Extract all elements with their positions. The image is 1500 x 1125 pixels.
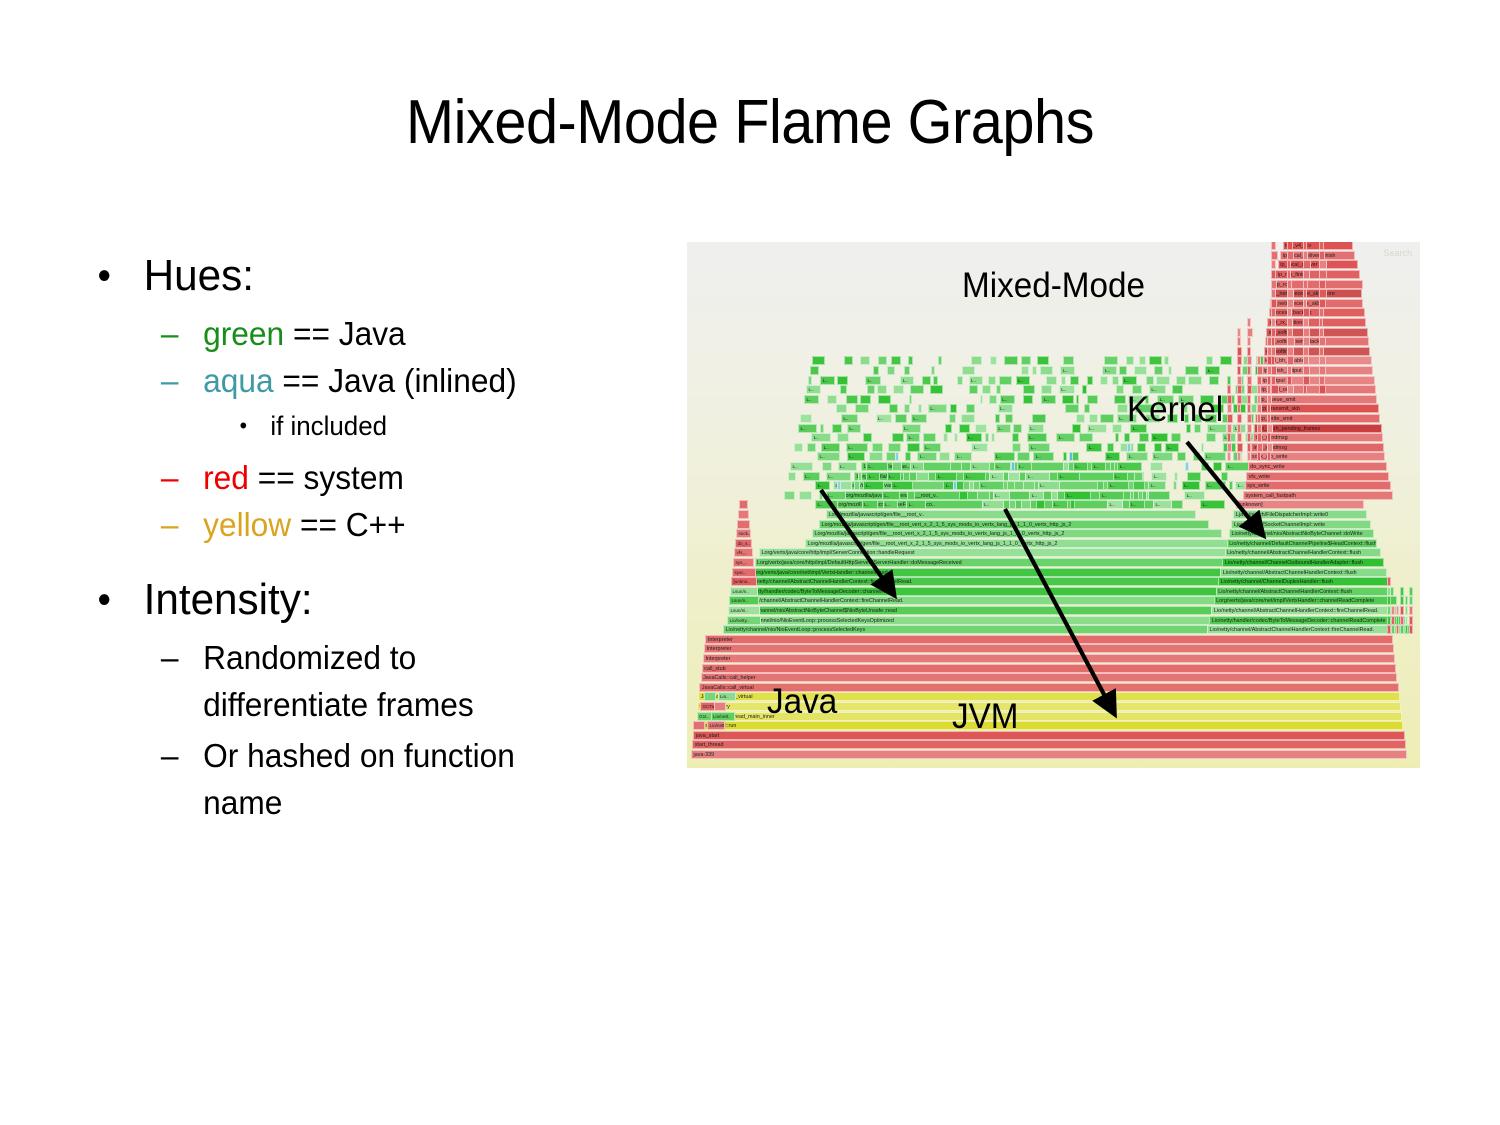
flame-frame[interactable]: L.. — [1064, 491, 1091, 500]
flame-frame[interactable] — [1193, 452, 1200, 461]
flame-frame[interactable] — [1206, 356, 1213, 365]
flame-frame[interactable]: L.. — [887, 472, 902, 481]
flame-frame[interactable] — [1271, 242, 1276, 250]
flame-frame[interactable]: L.. — [910, 462, 924, 471]
flame-frame[interactable] — [860, 356, 871, 365]
flame-frame[interactable]: L.. — [1204, 452, 1227, 461]
flame-frame[interactable]: L.. — [847, 452, 866, 461]
flame-frame[interactable]: L.. — [1126, 452, 1148, 461]
flame-frame[interactable] — [1405, 606, 1409, 615]
flame-frame[interactable]: L.. — [1107, 481, 1128, 490]
flame-frame[interactable]: Lio/netty.. — [727, 616, 761, 625]
flame-frame[interactable] — [1271, 347, 1276, 356]
flame-frame[interactable] — [1396, 625, 1400, 634]
flame-frame[interactable]: L.. — [1087, 424, 1107, 433]
flame-frame[interactable] — [1138, 491, 1143, 500]
flame-frame[interactable] — [916, 472, 929, 481]
flame-frame[interactable] — [1319, 308, 1324, 317]
flame-frame[interactable] — [933, 376, 938, 385]
flame-frame[interactable] — [1400, 616, 1404, 625]
flame-frame[interactable] — [1061, 376, 1065, 385]
flame-frame[interactable] — [980, 395, 984, 404]
flame-frame[interactable] — [1257, 424, 1262, 433]
flame-frame[interactable] — [1227, 443, 1232, 452]
flame-frame[interactable] — [1267, 424, 1273, 433]
flame-frame[interactable] — [1387, 596, 1391, 605]
flame-frame[interactable] — [1287, 347, 1294, 356]
flame-frame[interactable]: vfs_write — [1246, 472, 1389, 481]
flame-frame[interactable] — [1076, 414, 1085, 423]
flame-frame[interactable]: ip_output — [1260, 376, 1374, 385]
flame-frame[interactable] — [1227, 376, 1232, 385]
flame-frame[interactable] — [860, 395, 871, 404]
flame-frame[interactable]: tcp_write_xmit — [1255, 414, 1380, 423]
flame-frame[interactable] — [1237, 347, 1242, 356]
flame-frame[interactable]: tcp_transmit_skb — [1257, 404, 1379, 413]
flame-frame[interactable] — [893, 385, 904, 394]
flame-frame[interactable]: L.. — [1086, 443, 1102, 452]
flame-frame[interactable] — [1139, 433, 1149, 442]
flame-frame[interactable] — [977, 491, 990, 500]
flame-frame[interactable]: L.. — [1182, 481, 1200, 490]
flame-frame[interactable] — [1023, 395, 1033, 404]
flame-frame[interactable] — [810, 366, 819, 375]
flame-frame[interactable] — [877, 385, 887, 394]
flame-frame[interactable] — [1070, 376, 1079, 385]
flame-frame[interactable]: L.. — [866, 462, 888, 471]
flame-frame[interactable]: L.. — [906, 500, 926, 509]
flame-frame[interactable] — [872, 443, 883, 452]
flame-frame[interactable]: L.. — [798, 424, 817, 433]
flame-frame[interactable]: L.. — [826, 472, 851, 481]
flame-frame[interactable] — [1070, 500, 1075, 509]
flame-frame[interactable]: L.. — [979, 481, 1004, 490]
flame-frame[interactable] — [1112, 376, 1120, 385]
flame-frame[interactable] — [938, 356, 942, 365]
flame-frame[interactable] — [1114, 395, 1126, 404]
flame-frame[interactable] — [837, 376, 847, 385]
flame-frame[interactable] — [991, 433, 995, 442]
flame-frame[interactable]: L.. — [1184, 491, 1205, 500]
flame-frame[interactable] — [1139, 356, 1146, 365]
flame-frame[interactable] — [1396, 606, 1400, 615]
flame-frame[interactable]: L.. — [1073, 462, 1088, 471]
flame-frame[interactable]: L.. — [876, 414, 892, 423]
flame-frame[interactable] — [1287, 366, 1292, 375]
flame-frame[interactable] — [844, 356, 852, 365]
flame-frame[interactable] — [966, 404, 975, 413]
flame-frame[interactable]: L.. — [970, 462, 990, 471]
flame-frame[interactable] — [1119, 366, 1127, 375]
flame-frame[interactable] — [1126, 356, 1134, 365]
flame-frame[interactable]: tcp_push_pending_frames — [1254, 424, 1381, 433]
flame-frame[interactable] — [808, 376, 812, 385]
flame-frame[interactable] — [1221, 472, 1228, 481]
flame-frame[interactable] — [1271, 376, 1276, 385]
flame-frame[interactable] — [794, 443, 803, 452]
flame-frame[interactable] — [969, 481, 975, 490]
flame-frame[interactable]: L.. — [806, 385, 821, 394]
flame-frame[interactable] — [969, 385, 978, 394]
flame-frame[interactable] — [1247, 356, 1252, 365]
flame-frame[interactable] — [1257, 414, 1261, 423]
flame-frame[interactable]: Lorg/mozilla/javascript/gen/file__root_v… — [812, 529, 1222, 538]
flame-frame[interactable] — [820, 424, 824, 433]
flame-frame[interactable] — [904, 404, 910, 413]
flame-frame[interactable] — [1187, 472, 1201, 481]
flame-frame[interactable] — [907, 443, 920, 452]
flame-frame[interactable] — [1319, 251, 1325, 260]
flame-frame[interactable] — [1115, 433, 1119, 442]
flame-frame[interactable] — [1271, 356, 1275, 365]
flame-frame[interactable] — [1247, 347, 1251, 356]
flame-frame[interactable]: L.. — [1165, 443, 1179, 452]
flame-frame[interactable]: Lio/netty/channel/AbstractChannelHandler… — [1216, 587, 1394, 596]
flame-frame[interactable]: L.. — [969, 376, 983, 385]
flame-frame[interactable]: system_call_fastpath — [1243, 491, 1393, 500]
flame-frame[interactable] — [1405, 625, 1409, 634]
flame-frame[interactable]: Lio/netty/channel/AbstractChannelHandler… — [1220, 568, 1387, 577]
flame-frame[interactable] — [1087, 376, 1093, 385]
flame-frame[interactable]: L.. — [1152, 452, 1174, 461]
flame-frame[interactable] — [869, 452, 883, 461]
flame-frame[interactable] — [1387, 587, 1391, 596]
flame-frame[interactable] — [895, 414, 906, 423]
flame-frame[interactable] — [1303, 366, 1310, 375]
flame-frame[interactable] — [1257, 366, 1263, 375]
flame-frame[interactable]: L.. — [928, 404, 947, 413]
flame-frame[interactable] — [1267, 385, 1271, 394]
flame-frame[interactable] — [1303, 376, 1310, 385]
flame-frame[interactable] — [1237, 376, 1242, 385]
flame-frame[interactable] — [1267, 347, 1272, 356]
flame-frame[interactable] — [1257, 356, 1261, 365]
flame-frame[interactable]: L.. — [1017, 462, 1033, 471]
flame-frame[interactable]: sys_write — [1245, 481, 1392, 490]
flame-frame[interactable] — [907, 491, 915, 500]
flame-frame[interactable] — [858, 472, 862, 481]
flame-frame[interactable] — [1409, 596, 1413, 605]
flame-frame[interactable]: Lio/nett.. — [711, 712, 735, 721]
flame-frame[interactable] — [1023, 481, 1034, 490]
flame-frame[interactable] — [1287, 308, 1292, 317]
flame-frame[interactable] — [1134, 472, 1143, 481]
flame-frame[interactable] — [1287, 328, 1293, 337]
flame-frame[interactable]: L.. — [1052, 500, 1069, 509]
flame-frame[interactable] — [962, 366, 975, 375]
flame-frame[interactable] — [889, 404, 897, 413]
flame-frame[interactable]: L.. — [1148, 481, 1166, 490]
flame-frame[interactable] — [1405, 616, 1409, 625]
flame-frame[interactable] — [1247, 328, 1253, 337]
flame-frame[interactable]: L.. — [1029, 491, 1044, 500]
flame-frame[interactable]: L.. — [906, 433, 920, 442]
flame-frame[interactable] — [1188, 376, 1201, 385]
flame-frame[interactable]: Lio/netty/channel/nio/AbstractNioByteCha… — [1229, 529, 1374, 538]
flame-frame[interactable] — [1149, 356, 1161, 365]
flame-frame[interactable] — [1137, 443, 1146, 452]
flame-frame[interactable] — [693, 721, 705, 730]
flame-frame[interactable] — [918, 404, 923, 413]
flame-frame[interactable] — [1133, 481, 1145, 490]
flame-frame[interactable]: L.. — [1000, 395, 1016, 404]
flame-frame[interactable]: L.. — [891, 481, 913, 490]
flame-frame[interactable] — [1004, 356, 1018, 365]
flame-frame[interactable] — [855, 404, 869, 413]
flame-frame[interactable] — [1271, 385, 1279, 394]
flame-frame[interactable]: Lio.. — [718, 692, 736, 701]
flame-frame[interactable] — [1124, 433, 1131, 442]
flame-frame[interactable] — [1051, 491, 1058, 500]
flame-frame[interactable] — [714, 702, 726, 711]
flame-frame[interactable]: [unknown] — [1236, 500, 1365, 509]
flame-frame[interactable] — [1154, 443, 1162, 452]
flame-frame[interactable] — [1257, 443, 1263, 452]
flame-frame[interactable] — [1213, 462, 1222, 471]
flame-frame[interactable] — [1237, 404, 1241, 413]
flame-frame[interactable]: Ljava/nio/ch/FileDispatcherImpl::write0 — [1233, 510, 1367, 519]
flame-frame[interactable] — [1237, 424, 1241, 433]
flame-frame[interactable] — [943, 433, 948, 442]
flame-frame[interactable] — [1400, 587, 1404, 596]
flame-frame[interactable]: L.. — [994, 462, 1011, 471]
flame-frame[interactable] — [1237, 366, 1241, 375]
flame-frame[interactable]: L.. — [963, 472, 985, 481]
flame-frame[interactable] — [1237, 414, 1242, 423]
flame-frame[interactable] — [922, 376, 931, 385]
flame-frame[interactable] — [1036, 500, 1046, 509]
flame-frame[interactable] — [1227, 452, 1231, 461]
flame-frame[interactable] — [1110, 462, 1115, 471]
flame-frame[interactable] — [1319, 318, 1323, 327]
flame-frame[interactable] — [1247, 443, 1251, 452]
flame-frame[interactable] — [867, 385, 875, 394]
flame-frame[interactable] — [1287, 242, 1293, 250]
flame-frame[interactable]: L.. — [1205, 366, 1219, 375]
flame-frame[interactable] — [1303, 347, 1309, 356]
flame-frame[interactable] — [1237, 337, 1241, 346]
flame-frame[interactable] — [954, 433, 959, 442]
flame-frame[interactable] — [737, 520, 750, 529]
flame-frame[interactable] — [985, 433, 990, 442]
flame-frame[interactable]: do_softirq_own_stack — [1265, 337, 1369, 346]
flame-frame[interactable] — [1400, 606, 1404, 615]
search-label[interactable]: Search — [1383, 248, 1412, 258]
flame-frame[interactable] — [908, 356, 913, 365]
flame-frame[interactable]: L.. — [1102, 366, 1116, 375]
flame-frame[interactable]: Interpreter — [705, 635, 1392, 644]
flame-frame[interactable]: L.. — [994, 452, 1015, 461]
flame-frame[interactable] — [1303, 385, 1307, 394]
flame-frame[interactable] — [1267, 366, 1272, 375]
flame-frame[interactable]: Lio/netty/channel/AbstractChannelHandler… — [1211, 606, 1400, 615]
flame-frame[interactable]: L.. — [820, 376, 834, 385]
flame-frame[interactable] — [1174, 472, 1178, 481]
flame-frame[interactable] — [807, 443, 816, 452]
flame-frame[interactable] — [1257, 376, 1262, 385]
flame-frame[interactable]: L.. — [1033, 452, 1054, 461]
flame-frame[interactable] — [1319, 366, 1326, 375]
flame-frame[interactable] — [931, 366, 935, 375]
flame-frame[interactable] — [1271, 328, 1276, 337]
flame-frame[interactable] — [1303, 242, 1307, 250]
flame-frame[interactable] — [1409, 587, 1413, 596]
flame-frame[interactable] — [1065, 404, 1078, 413]
flame-frame[interactable]: Interpreter — [703, 654, 1395, 663]
flame-frame[interactable]: start_thread — [692, 740, 1406, 749]
flame-frame[interactable] — [1405, 596, 1409, 605]
flame-frame[interactable]: L.. — [1060, 366, 1075, 375]
flame-frame[interactable] — [738, 510, 749, 519]
flame-frame[interactable] — [1146, 376, 1153, 385]
flame-frame[interactable] — [1156, 376, 1170, 385]
flame-frame[interactable] — [1100, 376, 1108, 385]
flame-frame[interactable] — [800, 414, 812, 423]
flame-frame[interactable] — [1005, 414, 1013, 423]
flame-frame[interactable]: L.. — [1151, 472, 1167, 481]
flame-frame[interactable] — [1247, 395, 1251, 404]
flame-frame[interactable] — [910, 385, 924, 394]
flame-frame[interactable] — [827, 395, 837, 404]
flame-frame[interactable] — [873, 366, 879, 375]
flame-frame[interactable] — [1009, 500, 1015, 509]
flame-frame[interactable] — [1063, 356, 1074, 365]
flame-frame[interactable] — [840, 385, 847, 394]
flame-frame[interactable] — [1008, 472, 1020, 481]
flame-frame[interactable] — [1063, 452, 1067, 461]
flame-frame[interactable] — [1116, 385, 1124, 394]
flame-frame[interactable]: ip_finish_output — [1261, 366, 1373, 375]
flame-frame[interactable] — [953, 481, 957, 490]
flame-frame[interactable]: L.. — [1225, 462, 1250, 471]
flame-frame[interactable] — [1257, 433, 1262, 442]
flame-frame[interactable]: sysc.. — [732, 568, 756, 577]
flame-frame[interactable]: L.. — [966, 433, 983, 442]
flame-frame[interactable]: L.. — [1091, 462, 1105, 471]
flame-frame[interactable]: L.. — [1205, 481, 1226, 490]
flame-frame[interactable] — [1150, 462, 1164, 471]
flame-frame[interactable] — [1185, 462, 1189, 471]
flame-frame[interactable]: JavaCalls::call_helper — [701, 673, 1398, 682]
flame-frame[interactable] — [1267, 337, 1272, 346]
flame-frame[interactable] — [1319, 356, 1326, 365]
flame-frame[interactable] — [1127, 443, 1131, 452]
flame-frame[interactable]: L.. — [982, 500, 1005, 509]
flame-frame[interactable] — [1303, 308, 1310, 317]
flame-frame[interactable] — [1072, 452, 1079, 461]
flame-frame[interactable] — [1247, 452, 1251, 461]
flame-frame[interactable] — [1072, 424, 1081, 433]
flame-frame[interactable] — [995, 414, 1000, 423]
flame-frame[interactable]: Interpreter — [704, 644, 1394, 653]
flame-frame[interactable] — [957, 376, 962, 385]
flame-frame[interactable] — [1012, 443, 1021, 452]
flame-frame[interactable] — [1032, 414, 1046, 423]
flame-frame[interactable] — [1271, 318, 1276, 327]
flame-frame[interactable] — [878, 356, 888, 365]
flame-frame[interactable] — [988, 376, 996, 385]
flame-frame[interactable]: process_backlog — [1269, 308, 1365, 317]
flame-frame[interactable] — [1040, 366, 1053, 375]
flame-frame[interactable] — [1062, 395, 1074, 404]
flame-frame[interactable] — [1012, 433, 1019, 442]
flame-frame[interactable] — [1237, 395, 1242, 404]
flame-frame[interactable]: L.. — [1117, 462, 1142, 471]
flame-frame[interactable]: L.. — [1129, 500, 1145, 509]
flame-frame[interactable] — [1087, 395, 1098, 404]
flame-frame[interactable] — [1069, 452, 1073, 461]
flame-frame[interactable] — [1267, 433, 1271, 442]
flame-frame[interactable] — [1303, 356, 1309, 365]
flame-frame[interactable]: Ljava/nio/ch/SocketChannelImpl::write — [1231, 520, 1371, 529]
flame-frame[interactable]: L.. — [1153, 500, 1172, 509]
flame-frame[interactable] — [1032, 366, 1038, 375]
flame-frame[interactable]: L.. — [815, 500, 838, 509]
flame-frame[interactable]: Lorg/mozilla/javascript/gen/file__root_v… — [826, 510, 1196, 519]
flame-frame[interactable]: L.. — [838, 462, 858, 471]
flame-frame[interactable]: L.. — [1041, 395, 1056, 404]
flame-frame[interactable] — [892, 433, 904, 442]
flame-frame[interactable]: Lio/netty/channel/DefaultChannelPipeline… — [1227, 539, 1378, 548]
flame-frame[interactable]: L.. — [1027, 433, 1048, 442]
flame-frame[interactable] — [1227, 424, 1232, 433]
flame-frame[interactable] — [905, 452, 911, 461]
flame-frame[interactable] — [1287, 356, 1294, 365]
flame-frame[interactable]: L.. — [902, 424, 922, 433]
flame-frame[interactable] — [950, 462, 962, 471]
flame-frame[interactable] — [1271, 308, 1276, 317]
flame-frame[interactable] — [1201, 443, 1205, 452]
flame-frame[interactable] — [854, 481, 860, 490]
flame-frame[interactable]: L.. — [1057, 472, 1080, 481]
flame-frame[interactable] — [1319, 337, 1326, 346]
flame-frame[interactable]: L.. — [821, 443, 840, 452]
flame-frame[interactable]: L.. — [1056, 433, 1074, 442]
flame-frame[interactable]: L.. — [815, 481, 830, 490]
flame-frame[interactable] — [996, 385, 1001, 394]
flame-frame[interactable] — [1387, 606, 1391, 615]
flame-frame[interactable] — [1387, 616, 1391, 625]
flame-frame[interactable]: Lio/netty/channel/ChannelOutboundHandler… — [1222, 558, 1384, 567]
flame-frame[interactable]: L.. — [1122, 376, 1138, 385]
flame-frame[interactable]: L.. — [846, 443, 868, 452]
flame-frame[interactable] — [1013, 424, 1021, 433]
flame-frame[interactable]: L.. — [935, 472, 956, 481]
flame-frame[interactable] — [1168, 366, 1172, 375]
flame-frame[interactable]: [unkno.. — [731, 577, 757, 586]
flame-frame[interactable]: sock.. — [736, 529, 751, 538]
flame-frame[interactable] — [1267, 395, 1272, 404]
flame-frame[interactable] — [1396, 616, 1400, 625]
flame-frame[interactable] — [1387, 625, 1391, 634]
flame-frame[interactable] — [819, 491, 823, 500]
flame-frame[interactable] — [1227, 385, 1231, 394]
flame-frame[interactable] — [1063, 462, 1069, 471]
flame-frame[interactable]: L.. — [865, 376, 881, 385]
flame-frame[interactable] — [989, 395, 998, 404]
flame-frame[interactable] — [1247, 337, 1251, 346]
flame-frame[interactable] — [1146, 491, 1150, 500]
flame-frame[interactable] — [1247, 404, 1251, 413]
flame-frame[interactable] — [1391, 625, 1395, 634]
flame-frame[interactable]: local_bh_enable — [1263, 356, 1372, 365]
flame-frame[interactable]: L.. — [1200, 500, 1225, 509]
flame-frame[interactable] — [1177, 452, 1187, 461]
flame-frame[interactable]: do_s.. — [735, 539, 752, 548]
flame-frame[interactable] — [1319, 347, 1324, 356]
flame-frame[interactable]: Lio/netty/handler/codec/ByteToMessageDec… — [1209, 616, 1404, 625]
flame-frame[interactable] — [1084, 404, 1090, 413]
